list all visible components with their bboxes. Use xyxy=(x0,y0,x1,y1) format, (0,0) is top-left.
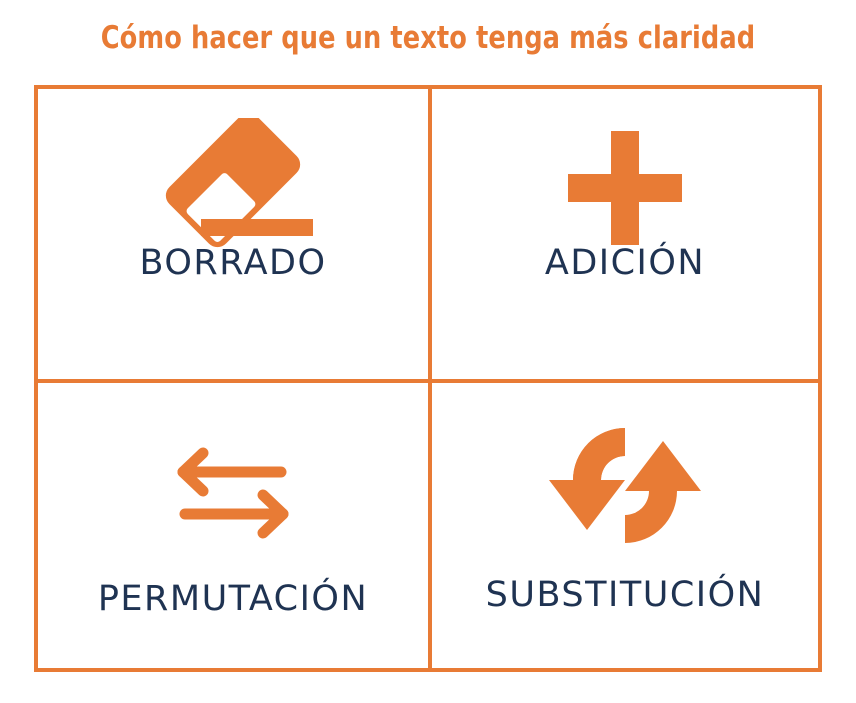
cell-label-permutacion: PERMUTACIÓN xyxy=(38,579,428,619)
plus-icon xyxy=(560,123,690,253)
infographic-root: Cómo hacer que un texto tenga más clarid… xyxy=(0,0,856,703)
operations-grid: BORRADO ADICIÓN xyxy=(34,85,822,672)
grid-cell-permutacion: PERMUTACIÓN xyxy=(38,379,428,669)
eraser-icon xyxy=(148,118,318,258)
swap-arrows-icon-wrap xyxy=(38,419,428,569)
grid-cell-adicion: ADICIÓN xyxy=(428,89,818,379)
circular-arrows-icon xyxy=(535,418,715,553)
cell-label-substitucion: SUBSTITUCIÓN xyxy=(432,575,818,615)
page-title: Cómo hacer que un texto tenga más clarid… xyxy=(34,16,822,60)
swap-arrows-icon xyxy=(173,444,293,544)
eraser-icon-wrap xyxy=(38,113,428,263)
circular-arrows-icon-wrap xyxy=(432,411,818,561)
grid-cell-substitucion: SUBSTITUCIÓN xyxy=(428,379,818,669)
grid-cell-borrado: BORRADO xyxy=(38,89,428,379)
plus-icon-wrap xyxy=(432,113,818,263)
cell-label-adicion: ADICIÓN xyxy=(432,243,818,283)
cell-label-borrado: BORRADO xyxy=(38,243,428,283)
